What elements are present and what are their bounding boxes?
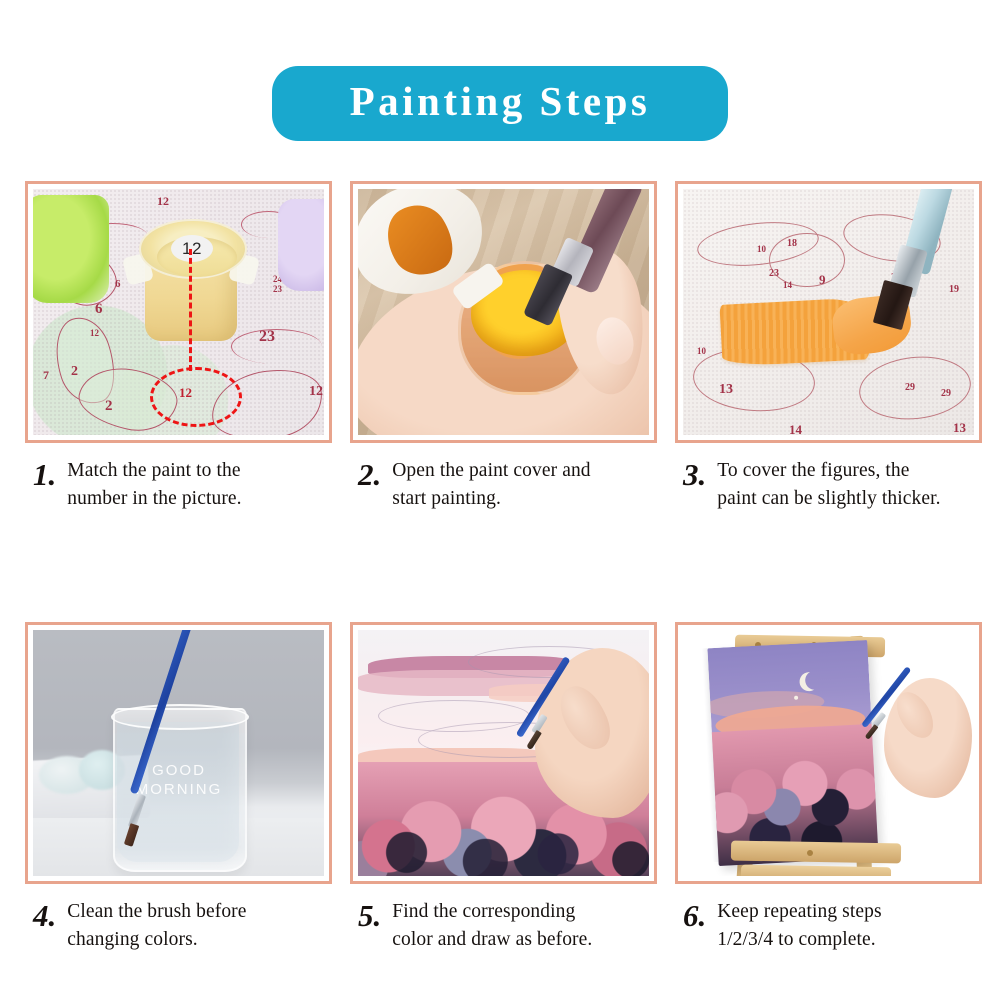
purple-paint-pot [278,199,324,291]
canvas-number: 2 [105,399,113,414]
step-description-line-2: number in the picture. [67,485,241,513]
step-card-4: GOOD MORNING 4. Clean the brush before c… [25,622,332,953]
header-banner: Painting Steps [272,66,728,141]
step-description: Clean the brush before changing colors. [67,898,246,953]
hand [884,678,972,798]
easel-tray-lower [741,865,891,876]
step-description-line-2: start painting. [392,485,590,513]
canvas-region-outline [769,233,845,287]
step-description: To cover the figures, the paint can be s… [717,457,940,512]
canvas-number: 13 [719,383,733,397]
steps-row-2: GOOD MORNING 4. Clean the brush before c… [0,622,1000,953]
red-dashed-pointer-line [189,249,192,371]
painted-dark-foliage [358,808,649,876]
step-card-5: 5. Find the corresponding color and draw… [350,622,657,953]
step-3-caption: 3. To cover the figures, the paint can b… [675,457,982,512]
step-description: Keep repeating steps 1/2/3/4 to complete… [717,898,881,953]
steps-grid: 12 24 2 7 6 6 23 12 2 7 2 12 24 23 [0,181,1000,954]
step-description-line-1: Match the paint to the [67,457,241,485]
step-5-photo-frame [350,622,657,884]
step-number: 3. [683,457,706,490]
finished-canvas [707,640,878,866]
header-banner-wrap: Painting Steps [0,0,1000,141]
canvas-number: 29 [905,383,915,393]
finished-painting-on-easel-photo [683,630,974,876]
step-description-line-1: To cover the figures, the [717,457,940,485]
step-description-line-1: Keep repeating steps [717,898,881,926]
canvas-number: 12 [90,329,99,338]
step-card-6: 6. Keep repeating steps 1/2/3/4 to compl… [675,622,982,953]
step-number: 6. [683,898,706,931]
step-description: Find the corresponding color and draw as… [392,898,592,953]
canvas-number: 14 [789,423,802,435]
step-description-line-1: Find the corresponding [392,898,592,926]
canvas-number: 23 [769,269,779,279]
step-description-line-1: Open the paint cover and [392,457,590,485]
step-2-photo-frame [350,181,657,443]
step-6-caption: 6. Keep repeating steps 1/2/3/4 to compl… [675,898,982,953]
step-description-line-2: 1/2/3/4 to complete. [717,926,881,954]
step-3-photo-frame: 10 18 23 14 9 20 13 19 20 13 10 29 29 14… [675,181,982,443]
canvas-number: 23 [273,285,282,294]
canvas-number: 12 [309,385,323,399]
step-number: 4. [33,898,56,931]
canvas-number: 2 [71,365,78,379]
opening-paint-pot-photo [358,189,649,435]
step-description-line-2: paint can be slightly thicker. [717,485,940,513]
brush-in-water-glass-photo: GOOD MORNING [33,630,324,876]
canvas-number: 18 [787,239,797,249]
step-description: Open the paint cover and start painting. [392,457,590,512]
red-dashed-highlight-ellipse [150,367,242,427]
step-number: 5. [358,898,381,931]
step-1-caption: 1. Match the paint to the number in the … [25,457,332,512]
step-2-caption: 2. Open the paint cover and start painti… [350,457,657,512]
canvas-number: 23 [259,329,275,345]
step-description-line-2: color and draw as before. [392,926,592,954]
lid-paint-residue [374,194,465,288]
partially-painted-canvas-photo [358,630,649,876]
step-6-photo-frame [675,622,982,884]
canvas-number: 19 [949,285,959,295]
step-number: 2. [358,457,381,490]
step-description-line-1: Clean the brush before [67,898,246,926]
step-card-1: 12 24 2 7 6 6 23 12 2 7 2 12 24 23 [25,181,332,512]
steps-row-1: 12 24 2 7 6 6 23 12 2 7 2 12 24 23 [0,181,1000,512]
canvas-number: 10 [757,245,766,254]
page-title: Painting Steps [320,80,680,123]
green-paint-pot [33,195,109,303]
easel-tray [731,841,901,864]
canvas-number: 29 [941,389,951,399]
canvas-number: 6 [95,302,103,317]
canvas-number: 13 [953,421,966,434]
canvas-number: 14 [783,281,792,290]
step-description: Match the paint to the number in the pic… [67,457,241,512]
step-4-caption: 4. Clean the brush before changing color… [25,898,332,953]
step-description-line-2: changing colors. [67,926,246,954]
step-card-3: 10 18 23 14 9 20 13 19 20 13 10 29 29 14… [675,181,982,512]
pot-number-label: 12 [171,235,213,262]
step-card-2: 2. Open the paint cover and start painti… [350,181,657,512]
painting-stroke-on-canvas-photo: 10 18 23 14 9 20 13 19 20 13 10 29 29 14… [683,189,974,435]
canvas-number: 10 [697,347,706,356]
canvas-number: 7 [43,369,49,381]
step-5-caption: 5. Find the corresponding color and draw… [350,898,657,953]
step-number: 1. [33,457,56,490]
step-4-photo-frame: GOOD MORNING [25,622,332,884]
paint-pot-matching-number-photo: 12 24 2 7 6 6 23 12 2 7 2 12 24 23 [33,189,324,435]
highlighted-region-number: 12 [179,385,192,401]
canvas-number: 12 [157,195,169,207]
canvas-number: 9 [819,273,826,286]
step-1-photo-frame: 12 24 2 7 6 6 23 12 2 7 2 12 24 23 [25,181,332,443]
canvas-number: 6 [115,279,121,290]
